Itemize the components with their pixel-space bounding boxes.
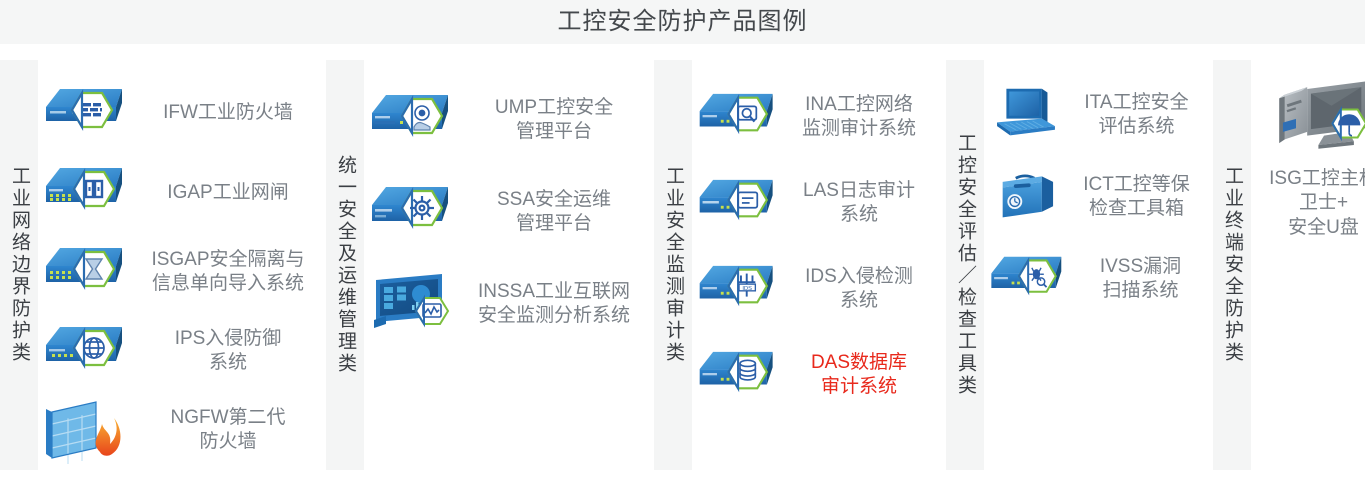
- product-label-highlighted: DAS数据库 审计系统: [794, 351, 924, 400]
- category-group-5: 工业终端安全防护类: [1213, 60, 1365, 470]
- rack-device-ids-icon: IDS: [692, 254, 788, 325]
- category-label-text: 工业网络边界防护类: [9, 166, 29, 364]
- category-label-text: 工业安全监测审计类: [663, 166, 683, 364]
- product-label: IVSS漏洞 扫描系统: [1082, 255, 1199, 304]
- product-label: IGAP工业网闸: [144, 181, 312, 205]
- product-label: ISGAP安全隔离与 信息单向导入系统: [144, 248, 312, 297]
- diagram-canvas: 工控安全防护产品图例 工业网络边界防护类: [0, 0, 1365, 487]
- category-label-text: 工控安全评估／检查工具类: [955, 133, 975, 397]
- laptop-icon: [984, 80, 1068, 151]
- product-item-igap[interactable]: IGAP工业网闸: [38, 153, 312, 232]
- category-group-3: 工业安全监测审计类: [654, 60, 932, 470]
- product-label: INA工控网络 监测审计系统: [794, 93, 924, 142]
- rack-device-ump-icon: [364, 83, 464, 158]
- product-label: INSSA工业互联网 安全监测分析系统: [470, 280, 638, 329]
- product-label: IDS入侵检测 系统: [794, 265, 924, 314]
- column-spacer: [312, 60, 326, 470]
- product-item-ids[interactable]: IDS IDS入侵检测 系统: [692, 246, 932, 332]
- category-label-security-monitoring-audit: 工业安全监测审计类: [654, 60, 692, 470]
- page-title: 工控安全防护产品图例: [558, 10, 808, 34]
- rack-device-ina-icon: [692, 82, 788, 153]
- category-items-3: INA工控网络 监测审计系统: [692, 60, 932, 470]
- category-label-text: 工业终端安全防护类: [1222, 166, 1242, 364]
- product-item-ssa[interactable]: SSA安全运维 管理平台: [364, 166, 640, 258]
- desktop-pc-icon: [1268, 74, 1365, 165]
- rack-device-ips-icon: [38, 315, 138, 388]
- title-band: 工控安全防护产品图例: [0, 0, 1365, 44]
- rack-device-ssa-icon: [364, 175, 464, 250]
- product-label: NGFW第二代 防火墙: [144, 406, 312, 455]
- rack-device-gap-icon: [38, 156, 138, 229]
- rack-device-las-icon: [692, 168, 788, 239]
- rack-device-ivss-icon: [984, 245, 1076, 314]
- svg-text:IDS: IDS: [742, 285, 752, 291]
- product-item-inssa[interactable]: INSSA工业互联网 安全监测分析系统: [364, 258, 640, 350]
- product-item-ina[interactable]: INA工控网络 监测审计系统: [692, 74, 932, 160]
- brick-wall-flame-icon: [38, 392, 138, 469]
- category-items-1: IFW工业防火墙: [38, 60, 312, 470]
- product-label: ICT工控等保 检查工具箱: [1074, 173, 1199, 222]
- category-group-1: 工业网络边界防护类: [0, 60, 312, 470]
- rack-device-isolation-icon: [38, 236, 138, 309]
- category-label-industrial-network-boundary: 工业网络边界防护类: [0, 60, 38, 470]
- category-label-unified-security-ops: 统一安全及运维管理类: [326, 60, 364, 470]
- product-label: ITA工控安全 评估系统: [1074, 91, 1199, 140]
- product-label: UMP工控安全 管理平台: [470, 96, 638, 145]
- product-item-isg[interactable]: ISG工控主机 卫士+ 安全U盘: [1251, 74, 1365, 240]
- product-item-ivss[interactable]: IVSS漏洞 扫描系统: [984, 238, 1199, 320]
- product-item-ips[interactable]: IPS入侵防御 系统: [38, 312, 312, 391]
- rack-device-das-icon: [692, 340, 788, 411]
- product-item-ump[interactable]: UMP工控安全 管理平台: [364, 74, 640, 166]
- dashboard-monitor-icon: [364, 266, 464, 343]
- product-label: LAS日志审计 系统: [794, 179, 924, 228]
- categories-board: 工业网络边界防护类: [0, 60, 1365, 470]
- product-label: SSA安全运维 管理平台: [470, 188, 638, 237]
- rack-device-firewall-icon: [38, 77, 138, 150]
- category-items-5: ISG工控主机 卫士+ 安全U盘: [1251, 60, 1365, 470]
- column-spacer: [1199, 60, 1213, 470]
- column-spacer: [932, 60, 946, 470]
- category-label-text: 统一安全及运维管理类: [335, 155, 355, 375]
- product-item-das[interactable]: DAS数据库 审计系统: [692, 332, 932, 418]
- category-items-2: UMP工控安全 管理平台: [364, 60, 640, 470]
- category-label-assessment-tools: 工控安全评估／检查工具类: [946, 60, 984, 470]
- column-spacer: [640, 60, 654, 470]
- product-item-ifw[interactable]: IFW工业防火墙: [38, 74, 312, 153]
- category-items-4: ITA工控安全 评估系统: [984, 60, 1199, 470]
- category-group-2: 统一安全及运维管理类: [326, 60, 640, 470]
- product-label: IFW工业防火墙: [144, 101, 312, 125]
- product-item-ngfw[interactable]: NGFW第二代 防火墙: [38, 391, 312, 470]
- product-item-isgap[interactable]: ISGAP安全隔离与 信息单向导入系统: [38, 232, 312, 311]
- category-group-4: 工控安全评估／检查工具类: [946, 60, 1199, 470]
- product-item-ict[interactable]: ICT工控等保 检查工具箱: [984, 156, 1199, 238]
- product-item-las[interactable]: LAS日志审计 系统: [692, 160, 932, 246]
- product-label: ISG工控主机 卫士+ 安全U盘: [1251, 167, 1365, 240]
- category-label-endpoint-protection: 工业终端安全防护类: [1213, 60, 1251, 470]
- toolbox-icon: [984, 162, 1068, 233]
- product-label: IPS入侵防御 系统: [144, 327, 312, 376]
- product-item-ita[interactable]: ITA工控安全 评估系统: [984, 74, 1199, 156]
